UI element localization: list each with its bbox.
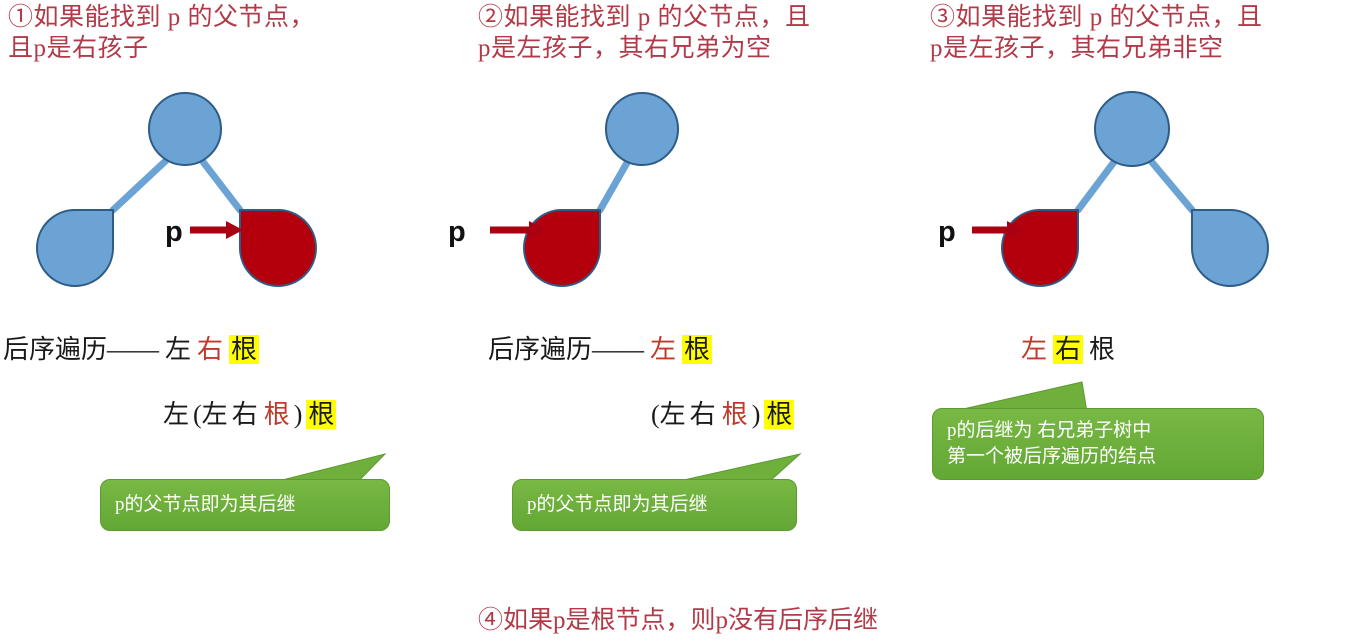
edge-root-to-right-child [1145,154,1192,210]
case-2-p-label: p [448,216,466,249]
edge-root-to-right-child [197,154,240,210]
edge-root-to-left-child [113,154,173,210]
traversal-token: ) [752,400,761,429]
p-pointer-arrow [190,221,243,239]
case-3-traversal-line-1: 左右根 [1018,333,1118,367]
node-p-left-child-red [1002,210,1078,286]
case-1-callout-text: p的父节点即为其后继 [100,479,390,531]
traversal-token: 根 [764,400,794,429]
case-2-callout-text: p的父节点即为其后继 [512,479,797,531]
node-p-right-child-red [240,210,316,286]
traversal-token: 左 [650,335,676,364]
traversal-token: 右 [197,335,223,364]
traversal-token: 后序遍历—— [488,335,644,364]
traversal-token: ) [294,400,303,429]
case-1-callout: p的父节点即为其后继 [100,452,390,531]
node-root-blue [149,93,221,165]
edge-root-to-left-child [1078,154,1120,210]
node-root-blue [1095,92,1169,166]
traversal-token: 根 [306,400,336,429]
case-3-callout-text: p的后继为 右兄弟子树中 第一个被后序遍历的结点 [932,408,1264,480]
node-left-child-blue [37,210,113,286]
traversal-token: (左 [193,400,228,429]
case-2-traversal-line-2: (左右根)根 [650,398,797,432]
node-root-blue [606,93,678,165]
case-2-traversal-line-1: 后序遍历——左根 [485,333,715,367]
node-right-sibling-blue [1192,210,1268,286]
traversal-token: 根 [722,400,748,429]
bottom-note: ④如果p是根节点，则p没有后序后继 [0,600,1356,636]
case-3-p-label: p [938,216,956,249]
traversal-token: 根 [264,400,290,429]
traversal-token: 后序遍历—— [3,335,159,364]
traversal-token: (左 [651,400,686,429]
case-1-traversal-line-1: 后序遍历——左右根 [0,333,262,367]
traversal-token: 右 [232,400,258,429]
traversal-token: 左 [1021,335,1047,364]
case-1-p-label: p [165,216,183,249]
traversal-token: 左 [165,335,191,364]
traversal-token: 左 [163,400,189,429]
traversal-token: 根 [229,335,259,364]
node-p-left-child-red [524,210,600,286]
case-2-tree-diagram [440,92,740,277]
traversal-token: 根 [682,335,712,364]
case-3-heading: ③如果能找到 p 的父节点，且 p是左孩子，其右兄弟非空 [930,2,1356,64]
traversal-token: 右 [1053,335,1083,364]
case-1-traversal-line-2: 左(左右根)根 [160,398,339,432]
case-2-callout: p的父节点即为其后继 [512,452,797,531]
case-3-callout: p的后继为 右兄弟子树中 第一个被后序遍历的结点 [932,378,1264,480]
case-3-tree-diagram [930,92,1270,277]
traversal-token: 根 [1089,335,1115,364]
case-2-heading: ②如果能找到 p 的父节点，且 p是左孩子，其右兄弟为空 [478,2,918,64]
case-1-tree-diagram [45,92,345,277]
traversal-token: 右 [690,400,716,429]
case-1-heading: ①如果能找到 p 的父节点， 且p是右孩子 [8,2,438,64]
